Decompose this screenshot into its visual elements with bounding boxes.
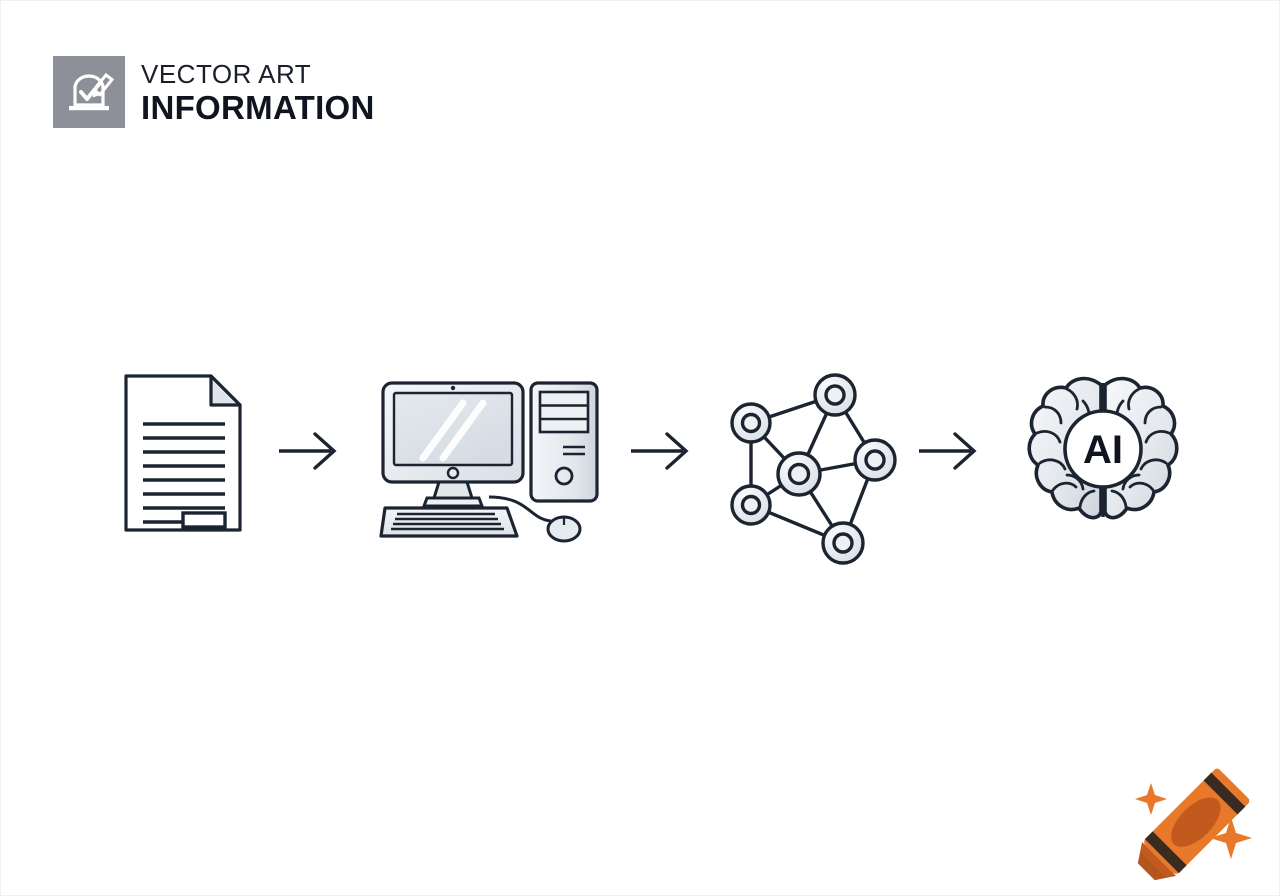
ai-brain-icon: AI bbox=[1023, 371, 1183, 541]
ballot-check-pencil-icon bbox=[53, 56, 125, 128]
flow-step-network bbox=[723, 371, 903, 551]
flow-step-brain: AI bbox=[1023, 371, 1183, 541]
document-signature-box bbox=[123, 493, 243, 553]
desktop-computer-icon bbox=[379, 379, 609, 544]
arrow-right-icon-1 bbox=[277, 429, 339, 473]
sparkle-icon-1 bbox=[1135, 783, 1167, 815]
logo-text: VECTOR ART INFORMATION bbox=[141, 61, 375, 124]
flow-step-document bbox=[123, 373, 243, 533]
process-flow: AI bbox=[1, 351, 1280, 561]
arrow-right-icon-2 bbox=[629, 429, 691, 473]
artboard: VECTOR ART INFORMATION bbox=[0, 0, 1280, 896]
ai-badge-label: AI bbox=[1083, 428, 1123, 472]
logo-line-2: INFORMATION bbox=[141, 91, 375, 124]
crayon-watermark bbox=[1119, 761, 1259, 881]
logo: VECTOR ART INFORMATION bbox=[53, 56, 375, 128]
logo-line-1: VECTOR ART bbox=[141, 61, 375, 87]
arrow-right-icon-3 bbox=[917, 429, 979, 473]
crayon-icon bbox=[1119, 761, 1259, 881]
neural-network-icon bbox=[723, 371, 903, 551]
flow-step-computer bbox=[379, 379, 609, 544]
